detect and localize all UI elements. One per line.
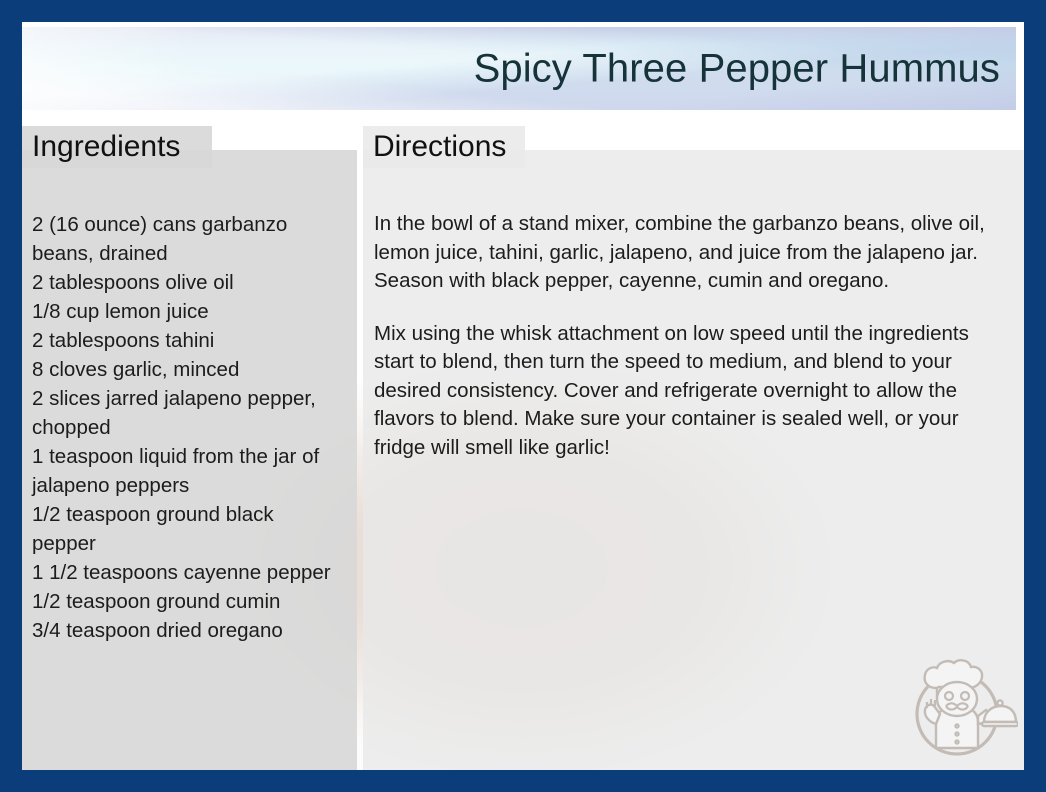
ingredient-line: 1 teaspoon liquid from the jar of [32,442,362,471]
header-banner: Spicy Three Pepper Hummus [22,27,1016,110]
ingredient-line: 2 tablespoons olive oil [32,268,362,297]
directions-body: In the bowl of a stand mixer, combine th… [374,210,1014,462]
tab-ingredients[interactable]: Ingredients [22,126,212,168]
ingredient-line: jalapeno peppers [32,471,362,500]
page-title: Spicy Three Pepper Hummus [474,46,1000,91]
tab-directions[interactable]: Directions [363,126,525,168]
ingredient-line: 2 slices jarred jalapeno pepper, [32,384,362,413]
direction-paragraph: In the bowl of a stand mixer, combine th… [374,210,1014,296]
chef-mascot-logo [896,644,1018,766]
direction-paragraph: Mix using the whisk attachment on low sp… [374,320,1014,463]
ingredient-line: 1/2 teaspoon ground black [32,500,362,529]
card-stage: Spicy Three Pepper Hummus Ingredients Di… [22,22,1024,770]
ingredient-line: 1/8 cup lemon juice [32,297,362,326]
ingredient-line: chopped [32,413,362,442]
ingredient-line: 1 1/2 teaspoons cayenne pepper [32,558,362,587]
tab-ingredients-label: Ingredients [22,130,180,164]
ingredient-line: 8 cloves garlic, minced [32,355,362,384]
ingredient-line: 1/2 teaspoon ground cumin [32,587,362,616]
ingredient-line: pepper [32,529,362,558]
ingredient-line: 2 (16 ounce) cans garbanzo [32,210,362,239]
ingredient-line: 3/4 teaspoon dried oregano [32,616,362,645]
ingredient-line: 2 tablespoons tahini [32,326,362,355]
recipe-card: Spicy Three Pepper Hummus Ingredients Di… [0,0,1046,792]
tab-directions-label: Directions [363,130,506,164]
ingredient-line: beans, drained [32,239,362,268]
ingredients-list: 2 (16 ounce) cans garbanzobeans, drained… [32,210,362,645]
